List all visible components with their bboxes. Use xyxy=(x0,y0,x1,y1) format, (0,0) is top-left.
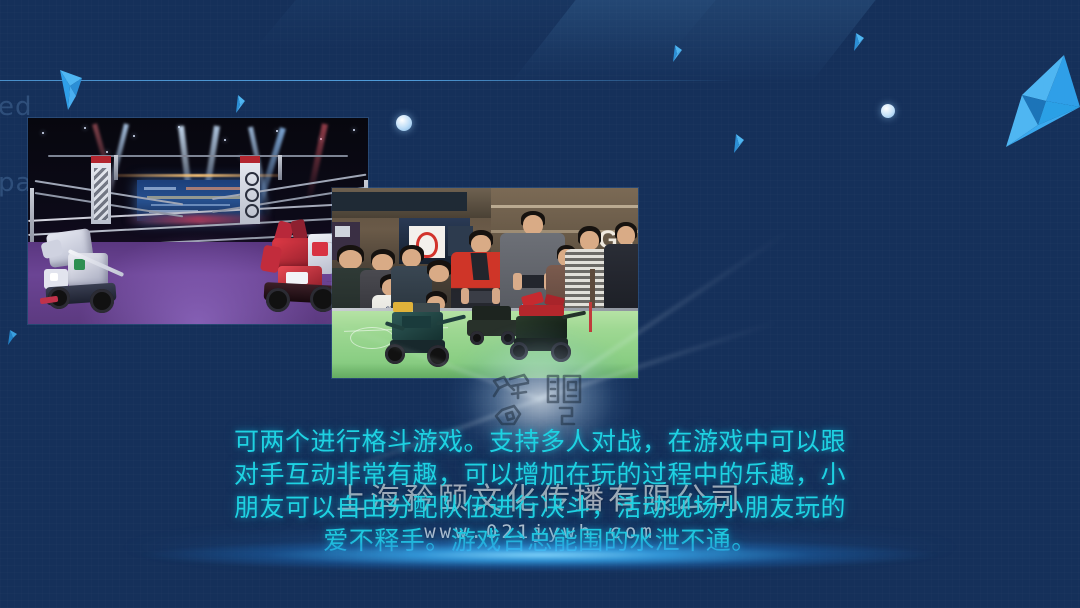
bottom-light-swoosh xyxy=(40,532,1040,578)
presentation-slide: ed paje xyxy=(0,0,1080,608)
arena-banner-left xyxy=(91,156,111,224)
crowd-robot-red xyxy=(506,294,586,370)
arena-banner-right xyxy=(240,156,260,224)
arena-robot-white xyxy=(40,223,122,315)
horizontal-accent-line xyxy=(0,80,740,81)
robot-battle-arena-photo xyxy=(28,118,368,324)
crowd-robot-teal xyxy=(381,302,470,374)
glow-orb-right xyxy=(881,104,895,118)
glow-orb-left xyxy=(396,115,412,131)
robot-battle-crowd-photo: G A STA xyxy=(332,188,638,378)
